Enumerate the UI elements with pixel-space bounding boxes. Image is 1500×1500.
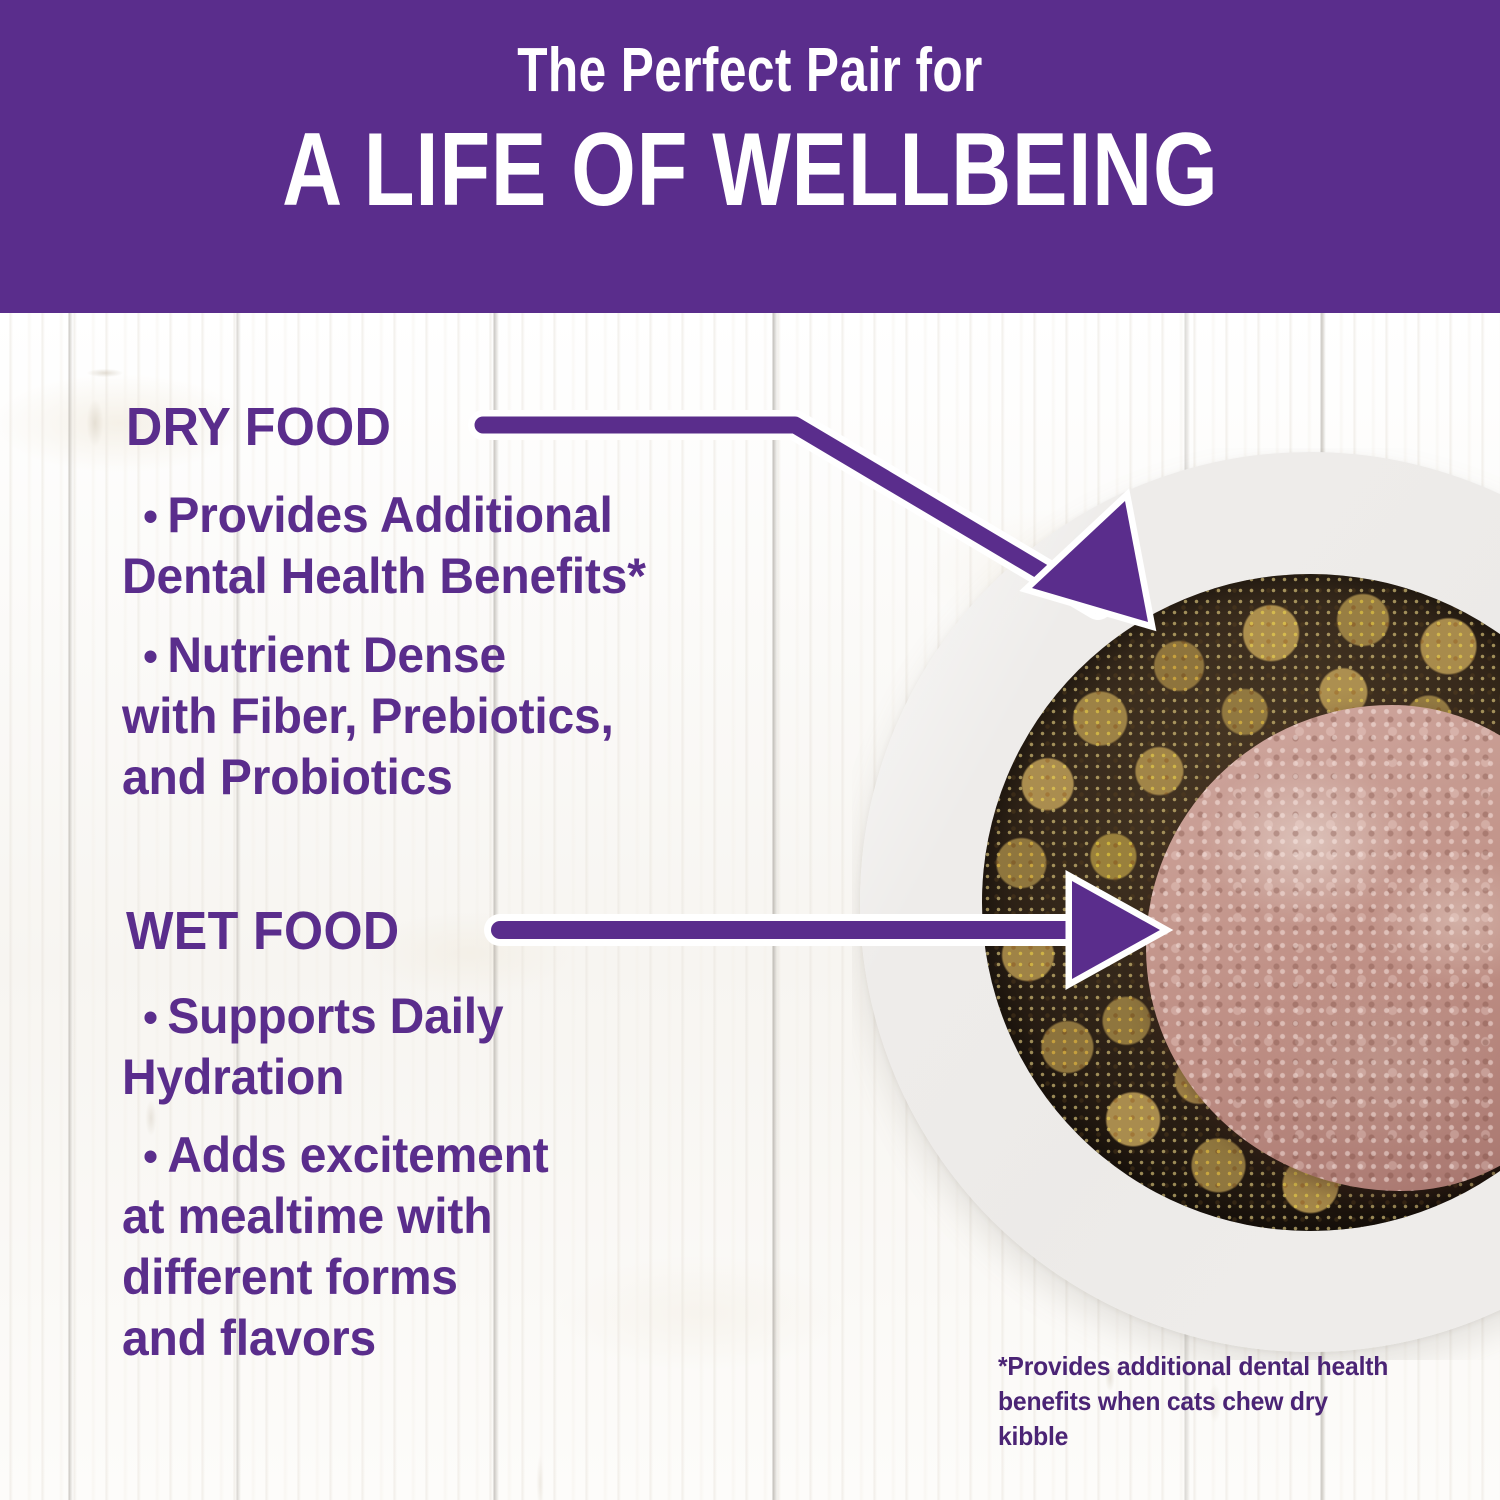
product-feature-poster: The Perfect Pair for A LIFE OF WELLBEING… bbox=[0, 0, 1500, 1500]
bullet-marker-icon: • bbox=[143, 492, 158, 541]
dental-benefit-footnote: *Provides additional dental health benef… bbox=[998, 1349, 1397, 1453]
bullet-marker-icon: • bbox=[143, 993, 158, 1042]
bullet-marker-icon: • bbox=[143, 1132, 158, 1181]
section-heading-wet-food: WET FOOD bbox=[126, 900, 400, 962]
footnote-line-2: benefits when cats chew dry kibble bbox=[998, 1386, 1328, 1451]
header-subtitle: The Perfect Pair for bbox=[517, 40, 983, 102]
section-heading-dry-food: DRY FOOD bbox=[126, 396, 391, 458]
bullet-dry-1-line-2: Dental Health Benefits* bbox=[122, 548, 646, 604]
bullet-dry-1: •Provides Additional Dental Health Benef… bbox=[122, 485, 794, 607]
bullet-marker-icon: • bbox=[143, 632, 158, 681]
bullet-wet-2: •Adds excitement at mealtime with differ… bbox=[122, 1125, 794, 1369]
bullet-dry-2-line-1: Nutrient Dense bbox=[167, 627, 506, 683]
bullet-wet-2-line-3: different forms bbox=[122, 1249, 458, 1305]
bullet-dry-2: •Nutrient Dense with Fiber, Prebiotics, … bbox=[122, 625, 794, 808]
header-title: A LIFE OF WELLBEING bbox=[282, 116, 1219, 225]
header-banner: The Perfect Pair for A LIFE OF WELLBEING bbox=[0, 0, 1500, 313]
bullet-wet-1-line-2: Hydration bbox=[122, 1049, 344, 1105]
cat-food-bowl-photo bbox=[852, 448, 1500, 1360]
bowl-interior bbox=[982, 574, 1500, 1231]
bullet-dry-1-line-1: Provides Additional bbox=[167, 487, 612, 543]
bullet-wet-1: •Supports Daily Hydration bbox=[122, 986, 794, 1108]
benefits-copy-column: DRY FOOD •Provides Additional Dental Hea… bbox=[0, 313, 860, 1500]
footnote-line-1: *Provides additional dental health bbox=[998, 1351, 1388, 1381]
steel-bowl bbox=[860, 452, 1500, 1352]
bullet-dry-2-line-2: with Fiber, Prebiotics, bbox=[122, 688, 614, 744]
bullet-wet-2-line-1: Adds excitement bbox=[167, 1127, 548, 1183]
bullet-wet-2-line-4: and flavors bbox=[122, 1310, 376, 1366]
bullet-wet-1-line-1: Supports Daily bbox=[167, 988, 503, 1044]
bullet-wet-2-line-2: at mealtime with bbox=[122, 1188, 492, 1244]
bullet-dry-2-line-3: and Probiotics bbox=[122, 749, 453, 805]
